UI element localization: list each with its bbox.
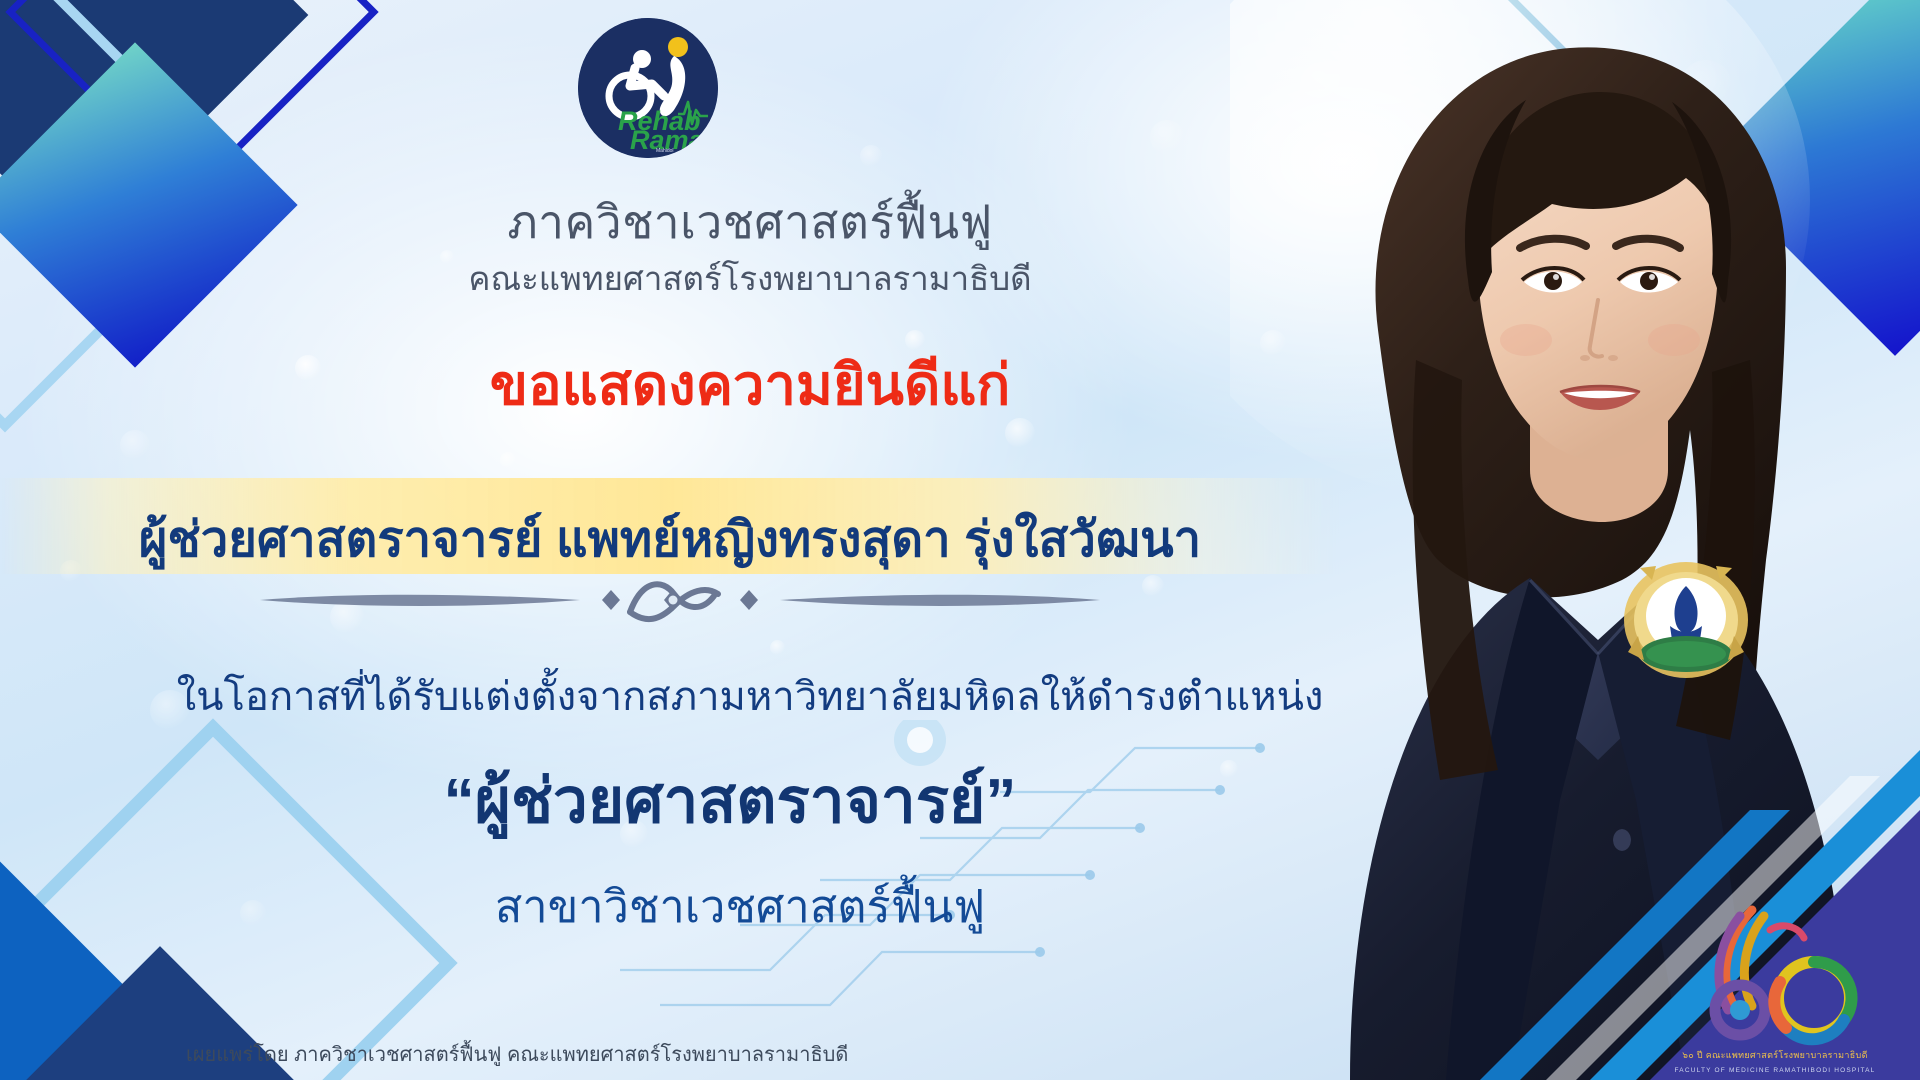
60th-anniversary-logo	[1674, 886, 1884, 1046]
ornamental-divider	[250, 572, 1110, 628]
anniversary-caption-thai: ๖๐ ปี คณะแพทยศาสตร์โรงพยาบาลรามาธิบดี	[1660, 1048, 1890, 1062]
logo-subword: Mahidol	[656, 148, 674, 154]
anniversary-caption-en: FACULTY OF MEDICINE RAMATHIBODI HOSPITAL	[1660, 1067, 1890, 1074]
rehab-rama-wheelchair-icon: Rehab Rama Mahidol	[578, 18, 718, 158]
department-logo: Rehab Rama Mahidol	[578, 18, 718, 158]
congratulation-poster: Rehab Rama Mahidol ภาควิชาเวชศาสตร์ฟื้นฟ…	[0, 0, 1920, 1080]
honoree-name: ผู้ช่วยศาสตราจารย์ แพทย์หญิงทรงสุดา รุ่ง…	[0, 500, 1340, 578]
footer-credit: เผยแพร่โดย ภาควิชาเวชศาสตร์ฟื้นฟู คณะแพท…	[186, 1038, 848, 1070]
